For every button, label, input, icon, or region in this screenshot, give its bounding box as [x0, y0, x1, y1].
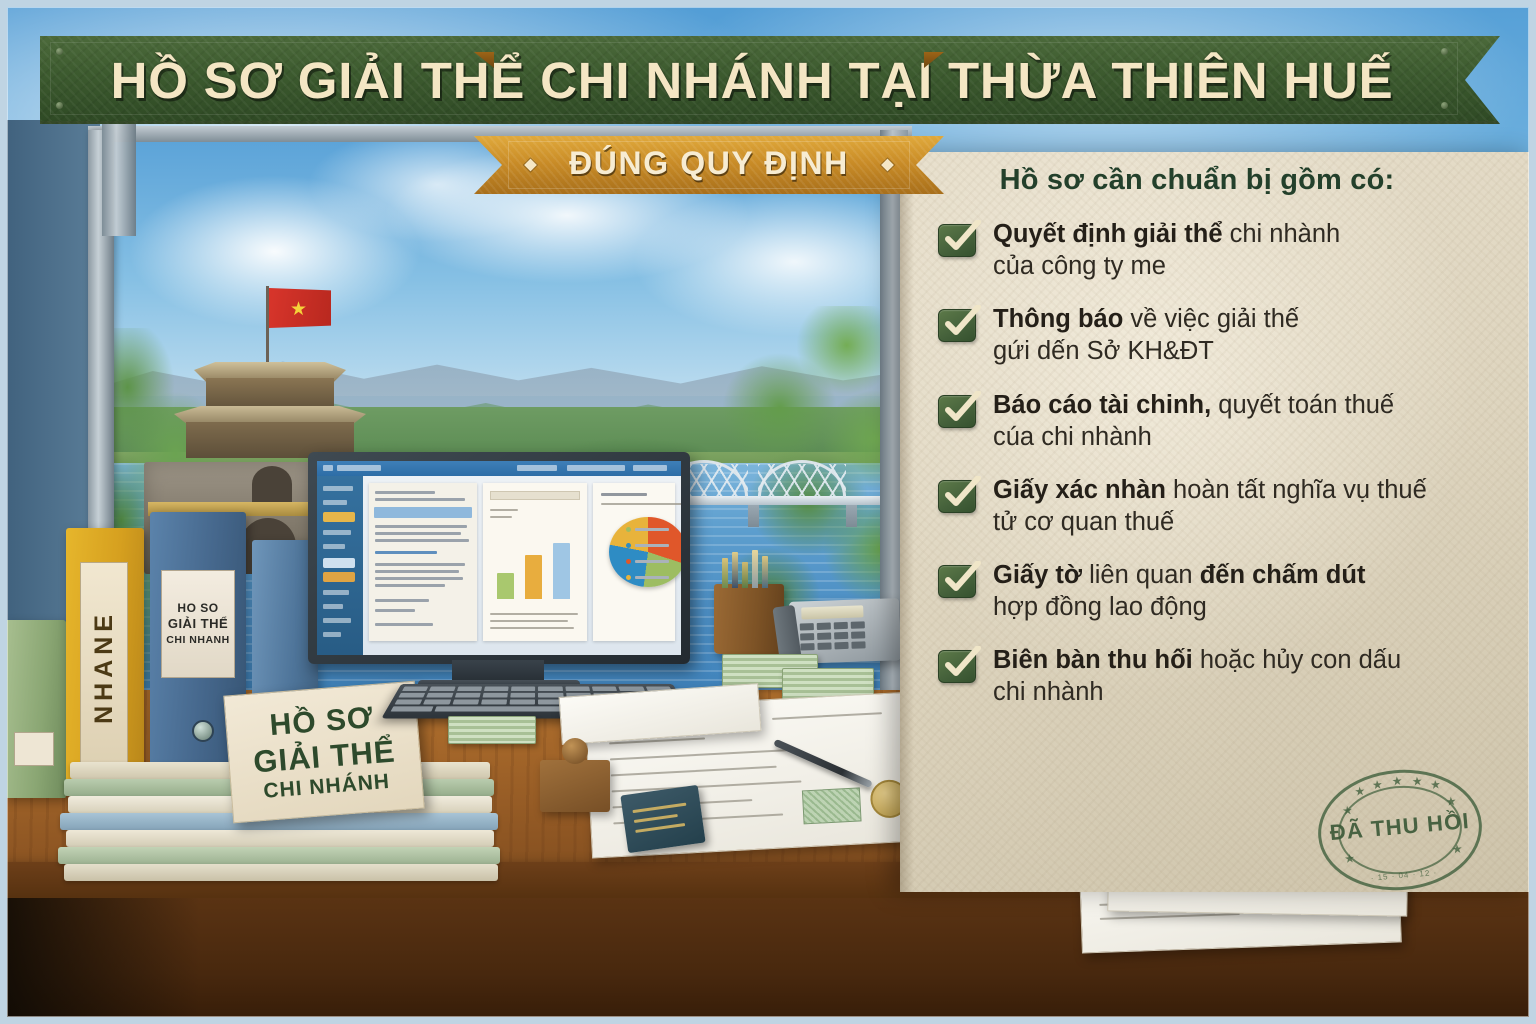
citadel-arch-upper: [252, 466, 292, 502]
binder-blue-label-line2: GIẢI THỂ: [168, 617, 228, 632]
passport-booklet: [620, 785, 705, 853]
item-second-line: cúa chi nhành: [993, 421, 1394, 453]
checklist-item[interactable]: Biên bàn thu hối hoặc hủy con dấu chi nh…: [938, 644, 1514, 708]
pencil: [742, 562, 748, 588]
star-icon: ★: [1451, 843, 1463, 856]
binder-green: [4, 620, 66, 798]
checkmark-icon[interactable]: [938, 309, 976, 342]
checklist-item-text: Giấy xác nhàn hoàn tất nghĩa vụ thuế tử …: [993, 474, 1427, 538]
item-bold-text: Thông báo: [993, 305, 1123, 333]
checklist-item[interactable]: Giấy xác nhàn hoàn tất nghĩa vụ thuế tử …: [938, 474, 1514, 538]
checkmark-icon[interactable]: [938, 565, 976, 598]
banner-support-post: [102, 116, 136, 236]
item-second-line: gứi dến Sở KH&ĐT: [993, 335, 1299, 367]
folder-layer: [66, 830, 494, 847]
status-badge: ★ ★ ★ ★ ★ ★ ★ ★ ★ ĐÃ THU HỒI · 15 · 04 ·…: [1313, 763, 1487, 897]
item-rest-text: chi nhành: [1223, 220, 1341, 248]
checklist-item-text: Thông báo về việc giải thế gứi dến Sở KH…: [993, 303, 1299, 367]
checklist-item-text: Giấy tờ liên quan đến chấm dút hợp đồng …: [993, 559, 1365, 623]
binder-blue-spine-label: HO SO GIẢI THỂ CHI NHANH: [161, 570, 235, 678]
app-top-bar: [317, 461, 681, 476]
checklist-item[interactable]: Quyết định giải thể chi nhành của công t…: [938, 218, 1514, 282]
checklist-item-text: Quyết định giải thể chi nhành của công t…: [993, 218, 1340, 282]
telephone-display: [801, 605, 863, 619]
item-rest-text: quyết toán thuế: [1211, 391, 1394, 419]
checklist-item[interactable]: Thông báo về việc giải thế gứi dến Sở KH…: [938, 303, 1514, 367]
computer-monitor: [308, 452, 690, 664]
item-rest-text: về việc giải thế: [1123, 305, 1299, 333]
pencil: [752, 550, 758, 588]
document-bundle: [448, 716, 536, 744]
checklist: Quyết định giải thể chi nhành của công t…: [938, 218, 1514, 730]
item-rest-text: liên quan: [1082, 561, 1200, 589]
checkmark-icon[interactable]: [938, 224, 976, 257]
item-second-line: chi nhành: [993, 676, 1401, 708]
star-icon: ★: [1411, 775, 1423, 788]
checklist-item[interactable]: Giấy tờ liên quan đến chấm dút hợp đồng …: [938, 559, 1514, 623]
item-bold-text: Giấy tờ: [993, 561, 1082, 589]
bridge-pier: [748, 505, 759, 527]
binder-yellow-spine-label: NHANE: [80, 562, 128, 772]
item-bold-text: Quyết định giải thể: [993, 220, 1223, 248]
infographic-poster: NHANE HO SO GIẢI THỂ CHI NHANH HỒ SƠ GIẢ…: [0, 0, 1536, 1024]
chart-title-placeholder: [490, 491, 580, 500]
page-title: HỒ SƠ GIẢI THỂ CHI NHÁNH TẠI THỪA THIÊN …: [40, 36, 1464, 124]
stamp-knob: [562, 738, 588, 764]
monitor-screen: [317, 461, 681, 655]
bar-3: [553, 543, 570, 599]
binder-blue-label-line1: HO SO: [177, 602, 218, 616]
checklist-heading: Hồ sơ cần chuẩn bị gồm có:: [900, 164, 1494, 197]
ribbon-inner-border: [508, 141, 910, 189]
bar-2: [525, 555, 542, 599]
item-second-line: hợp đồng lao động: [993, 591, 1365, 623]
pencil: [722, 558, 728, 588]
folder-layer: [64, 864, 498, 881]
floor-shadow: [0, 898, 200, 1024]
star-icon: ★: [1342, 804, 1354, 817]
binder-yellow-label-text: NHANE: [90, 610, 119, 724]
checkmark-icon[interactable]: [938, 480, 976, 513]
folder-layer: [58, 847, 500, 864]
telephone-keypad: [800, 621, 866, 650]
item-bold-text-2: đến chấm dút: [1200, 561, 1366, 589]
star-icon: ★: [1354, 785, 1366, 798]
item-bold-text: Biên bàn thu hối: [993, 646, 1193, 674]
item-rest-text: hoặc hủy con dấu: [1193, 646, 1401, 674]
bridge-truss: [758, 464, 846, 498]
binder-lock-knob: [192, 720, 214, 742]
checklist-item-text: Báo cáo tài chinh, quyết toán thuế cúa c…: [993, 389, 1394, 453]
star-icon: ★: [1445, 795, 1457, 808]
checkmark-icon[interactable]: [938, 650, 976, 683]
tower-upper: [206, 378, 334, 408]
checkmark-icon[interactable]: [938, 395, 976, 428]
star-icon: ★: [1391, 775, 1403, 788]
wooden-rubber-stamp: [540, 760, 610, 812]
title-banner: HỒ SƠ GIẢI THỂ CHI NHÁNH TẠI THỪA THIÊN …: [40, 36, 1500, 124]
panel-left-edge: [900, 152, 914, 892]
star-icon: ★: [1371, 778, 1383, 791]
pencil: [732, 552, 738, 588]
bar-1: [497, 573, 514, 599]
item-bold-text: Báo cáo tài chinh,: [993, 391, 1211, 419]
subtitle-ribbon: ĐÚNG QUY ĐỊNH: [474, 136, 944, 194]
document-preview-pane: [369, 483, 477, 641]
binder-blue-label-line3: CHI NHANH: [166, 634, 229, 646]
bridge-pier: [846, 505, 857, 527]
bar-chart-widget: [483, 483, 587, 641]
checklist-item[interactable]: Báo cáo tài chinh, quyết toán thuế cúa c…: [938, 389, 1514, 453]
pie-chart-widget: [593, 483, 675, 641]
item-bold-text: Giấy xác nhàn: [993, 476, 1166, 504]
green-seal-mark: [802, 787, 862, 824]
item-second-line: của công ty me: [993, 250, 1340, 282]
binder-tag: [14, 732, 54, 766]
pencil: [762, 556, 768, 588]
item-rest-text: hoàn tất nghĩa vụ thuế: [1166, 476, 1427, 504]
checklist-item-text: Biên bàn thu hối hoặc hủy con dấu chi nh…: [993, 644, 1401, 708]
star-icon: ★: [1344, 852, 1356, 865]
binder-yellow: NHANE: [66, 528, 144, 790]
item-second-line: tử cơ quan thuế: [993, 506, 1427, 538]
flag-pole: [266, 286, 269, 366]
star-icon: ★: [1430, 778, 1442, 791]
app-sidebar: [317, 476, 363, 655]
